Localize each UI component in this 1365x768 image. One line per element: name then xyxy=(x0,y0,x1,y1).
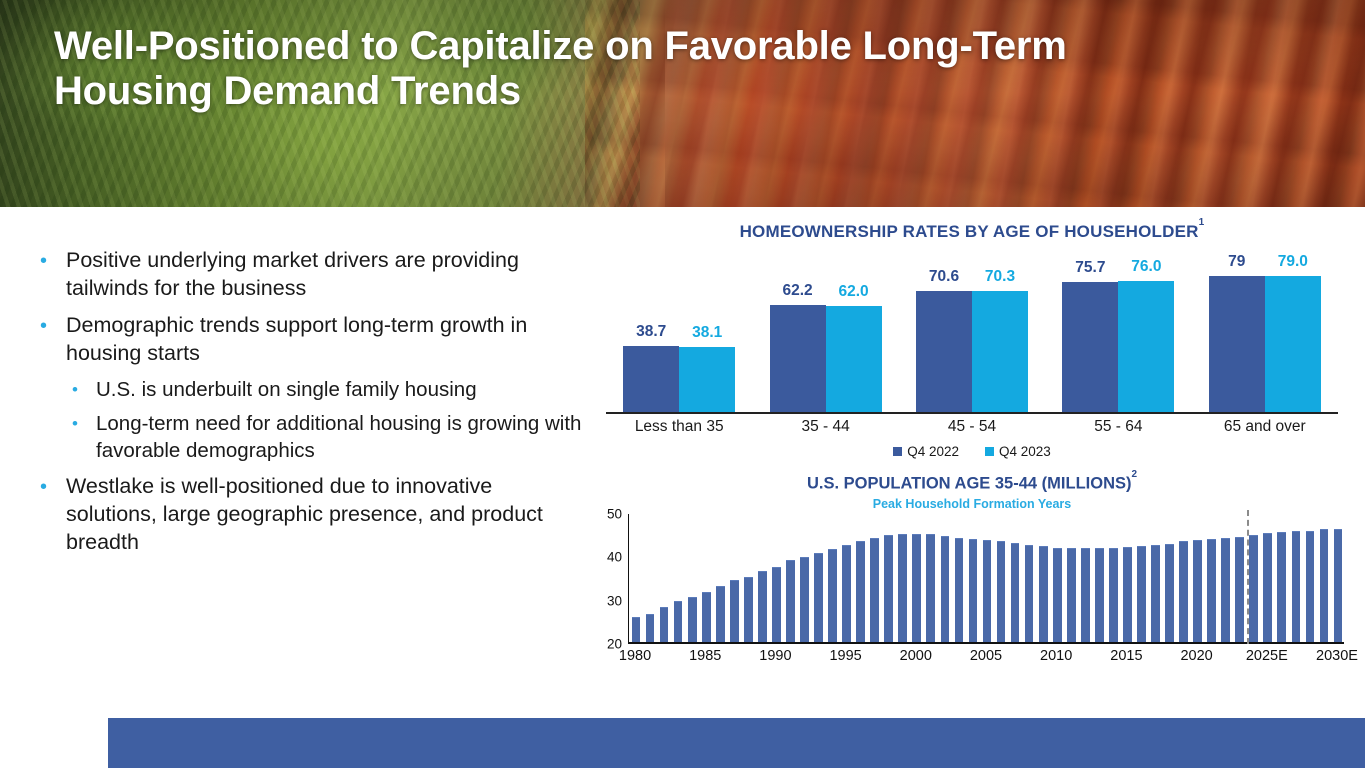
chart2-bar xyxy=(702,592,711,642)
chart2-bar xyxy=(1334,529,1343,642)
chart2-x-tick-label: 2005 xyxy=(970,648,1002,664)
footer-bar xyxy=(108,718,1365,768)
bullet-text: Demographic trends support long-term gro… xyxy=(66,312,585,368)
chart2-bar xyxy=(926,534,935,642)
chart1-bar xyxy=(1209,276,1265,412)
chart2-bar xyxy=(660,607,669,642)
chart1-bar-group: 70.670.3 xyxy=(916,291,1028,412)
header-banner-image: Well-Positioned to Capitalize on Favorab… xyxy=(0,0,1365,207)
chart1-bar-group: 75.776.0 xyxy=(1062,281,1174,412)
chart2-bar xyxy=(842,545,851,642)
chart2-bar xyxy=(632,617,641,642)
chart2-bar xyxy=(983,540,992,642)
chart2-y-axis: 20304050 xyxy=(592,514,622,644)
chart2-x-tick-label: 1985 xyxy=(689,648,721,664)
chart2-bar xyxy=(955,538,964,642)
chart2-x-tick-label: 2010 xyxy=(1040,648,1072,664)
chart2-plot-area xyxy=(628,514,1344,644)
chart1-value-label: 62.2 xyxy=(770,282,826,305)
chart2-subtitle: Peak Household Formation Years xyxy=(592,497,1352,511)
chart2-bar xyxy=(1165,544,1174,642)
chart2-plot-wrapper: 20304050 1980198519901995200020052010201… xyxy=(592,514,1352,674)
chart1-bar-group: 62.262.0 xyxy=(770,305,882,412)
chart2-bar xyxy=(1067,548,1076,642)
chart2-bar xyxy=(941,536,950,642)
chart1-bar-wrapper: 70.3 xyxy=(972,291,1028,412)
chart1-bar xyxy=(679,347,735,412)
chart2-bar xyxy=(1235,537,1244,642)
bullet-item: •Long-term need for additional housing i… xyxy=(40,411,585,464)
chart2-bar xyxy=(744,577,753,642)
chart2-bar xyxy=(800,557,809,642)
chart1-bar-wrapper: 76.0 xyxy=(1118,281,1174,412)
bullet-marker-icon: • xyxy=(40,473,66,497)
chart2-bar xyxy=(1263,533,1272,642)
chart2-bar xyxy=(1095,548,1104,642)
chart2-bar xyxy=(856,541,865,642)
chart1-title-superscript: 1 xyxy=(1199,217,1205,228)
chart1-bar xyxy=(1062,282,1118,412)
chart2-y-tick-label: 20 xyxy=(592,637,622,652)
chart2-y-tick-label: 50 xyxy=(592,507,622,522)
chart1-bar xyxy=(916,291,972,412)
chart2-bar xyxy=(828,549,837,642)
chart2-title: U.S. POPULATION AGE 35-44 (MILLIONS)2 xyxy=(592,474,1352,494)
slide-footer: WESTLAKE ROYAL BUILDING PRODUCTS™ EVERY … xyxy=(0,718,1365,768)
chart2-bar xyxy=(997,541,1006,642)
chart2-bar xyxy=(1109,548,1118,642)
chart2-bar xyxy=(1249,535,1258,642)
slide-root: Well-Positioned to Capitalize on Favorab… xyxy=(0,0,1365,768)
chart2-bar xyxy=(898,534,907,642)
chart2-x-axis: 1980198519901995200020052010201520202025… xyxy=(628,648,1344,670)
bullet-marker-icon: • xyxy=(40,247,66,271)
bullet-item: •Demographic trends support long-term gr… xyxy=(40,312,585,368)
chart2-bar xyxy=(730,580,739,642)
chart1-bar-wrapper: 79 xyxy=(1209,276,1265,412)
chart1-title: HOMEOWNERSHIP RATES BY AGE OF HOUSEHOLDE… xyxy=(592,222,1352,242)
chart2-bar xyxy=(1207,539,1216,642)
chart2-bar xyxy=(1081,548,1090,642)
chart1-legend-swatch xyxy=(985,447,994,456)
chart1-bar-wrapper: 38.7 xyxy=(623,346,679,412)
chart2-y-tick-label: 30 xyxy=(592,593,622,608)
chart2-bar xyxy=(758,571,767,642)
chart2-bar xyxy=(1025,545,1034,642)
chart1-bar-wrapper: 70.6 xyxy=(916,291,972,412)
chart1-value-label: 70.6 xyxy=(916,268,972,291)
bullet-marker-icon: • xyxy=(40,312,66,336)
chart2-bar xyxy=(1123,547,1132,642)
chart2-bar xyxy=(814,553,823,642)
chart1-bar xyxy=(623,346,679,412)
chart-homeownership-rates: HOMEOWNERSHIP RATES BY AGE OF HOUSEHOLDE… xyxy=(592,222,1352,447)
chart2-bar xyxy=(1277,532,1286,642)
chart1-value-label: 38.1 xyxy=(679,324,735,347)
chart1-bar-group: 7979.0 xyxy=(1209,276,1321,412)
chart2-x-tick-label: 2025E xyxy=(1246,648,1288,664)
chart2-x-tick-label: 2015 xyxy=(1110,648,1142,664)
chart2-bar xyxy=(870,538,879,642)
chart1-legend-item: Q4 2023 xyxy=(985,444,1051,459)
bullet-item: •U.S. is underbuilt on single family hou… xyxy=(40,377,585,404)
chart2-bar xyxy=(1137,546,1146,642)
chart2-bar xyxy=(1221,538,1230,642)
chart1-bar xyxy=(1118,281,1174,412)
chart2-bar xyxy=(786,560,795,642)
chart2-x-tick-label: 2020 xyxy=(1180,648,1212,664)
chart2-x-tick-label: 2000 xyxy=(900,648,932,664)
chart1-value-label: 62.0 xyxy=(826,283,882,306)
chart1-bar-wrapper: 38.1 xyxy=(679,347,735,412)
bullet-list: •Positive underlying market drivers are … xyxy=(40,247,585,565)
chart2-y-tick-label: 40 xyxy=(592,550,622,565)
chart2-bar xyxy=(884,535,893,642)
chart1-legend-label: Q4 2022 xyxy=(907,444,959,459)
bullet-item: •Westlake is well-positioned due to inno… xyxy=(40,473,585,557)
chart1-bar-wrapper: 79.0 xyxy=(1265,276,1321,412)
bullet-item: •Positive underlying market drivers are … xyxy=(40,247,585,303)
chart1-category-label: 65 and over xyxy=(1192,418,1338,436)
bullet-marker-icon: • xyxy=(72,411,96,432)
chart1-bar xyxy=(826,306,882,412)
chart1-category-label: 55 - 64 xyxy=(1045,418,1191,436)
chart2-bar xyxy=(646,614,655,642)
chart1-plot-area: 38.738.162.262.070.670.375.776.07979.0 xyxy=(606,268,1338,414)
chart1-category-label: 35 - 44 xyxy=(752,418,898,436)
bullet-text: Long-term need for additional housing is… xyxy=(96,411,585,464)
chart2-bar xyxy=(912,534,921,642)
chart-us-population-35-44: U.S. POPULATION AGE 35-44 (MILLIONS)2 Pe… xyxy=(592,474,1352,674)
bullet-text: Westlake is well-positioned due to innov… xyxy=(66,473,585,557)
chart2-title-superscript: 2 xyxy=(1131,469,1137,480)
chart1-value-label: 76.0 xyxy=(1118,258,1174,281)
chart2-x-tick-label: 1990 xyxy=(759,648,791,664)
chart2-bar xyxy=(688,597,697,643)
chart1-category-axis: Less than 3535 - 4445 - 5455 - 6465 and … xyxy=(606,418,1338,440)
chart2-bar xyxy=(1320,529,1329,642)
bullet-marker-icon: • xyxy=(72,377,96,398)
chart2-bar xyxy=(1193,540,1202,642)
chart1-value-label: 70.3 xyxy=(972,268,1028,291)
chart1-bar xyxy=(770,305,826,412)
bullet-text: Positive underlying market drivers are p… xyxy=(66,247,585,303)
chart1-bar-wrapper: 62.0 xyxy=(826,306,882,412)
chart2-x-tick-label: 1980 xyxy=(619,648,651,664)
chart2-bar xyxy=(1011,543,1020,642)
chart2-x-tick-label: 2030E xyxy=(1316,648,1358,664)
chart1-bar xyxy=(1265,276,1321,412)
chart1-bar xyxy=(972,291,1028,412)
chart2-bar xyxy=(772,567,781,642)
chart1-bar-group: 38.738.1 xyxy=(623,346,735,412)
chart1-bar-wrapper: 62.2 xyxy=(770,305,826,412)
chart2-bar xyxy=(1053,548,1062,642)
chart1-value-label: 38.7 xyxy=(623,323,679,346)
chart1-value-label: 79.0 xyxy=(1265,253,1321,276)
chart1-legend-swatch xyxy=(893,447,902,456)
chart2-bar xyxy=(1179,541,1188,642)
chart2-bar xyxy=(1039,546,1048,642)
chart1-legend: Q4 2022Q4 2023 xyxy=(592,444,1352,459)
page-title: Well-Positioned to Capitalize on Favorab… xyxy=(54,24,1234,114)
chart2-bar xyxy=(1292,531,1301,642)
chart1-bar-wrapper: 75.7 xyxy=(1062,282,1118,412)
chart2-bar xyxy=(969,539,978,642)
chart2-bar xyxy=(674,601,683,642)
chart1-legend-label: Q4 2023 xyxy=(999,444,1051,459)
chart2-bar xyxy=(716,586,725,642)
chart1-category-label: 45 - 54 xyxy=(899,418,1045,436)
chart2-bar xyxy=(1151,545,1160,643)
chart1-category-label: Less than 35 xyxy=(606,418,752,436)
chart2-bar xyxy=(1306,531,1315,642)
chart1-legend-item: Q4 2022 xyxy=(893,444,959,459)
chart1-value-label: 75.7 xyxy=(1062,259,1118,282)
chart2-x-tick-label: 1995 xyxy=(829,648,861,664)
chart1-value-label: 79 xyxy=(1209,253,1265,276)
bullet-text: U.S. is underbuilt on single family hous… xyxy=(96,377,477,404)
